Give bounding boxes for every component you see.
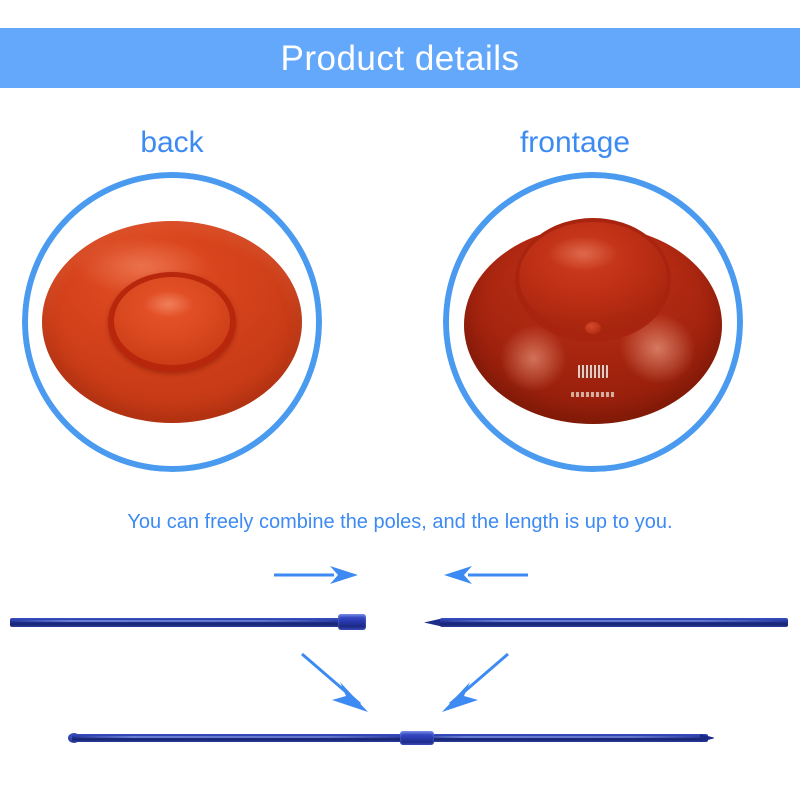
photo-ring-border-frontage bbox=[443, 172, 743, 472]
pole-joint-sleeve bbox=[400, 731, 434, 745]
pole-assembled-right-highlight bbox=[412, 736, 708, 738]
header-banner: Product details bbox=[0, 28, 800, 88]
photo-label-frontage: frontage bbox=[475, 128, 675, 158]
pole-left-highlight bbox=[10, 620, 342, 622]
arrow-left-icon bbox=[440, 562, 530, 588]
product-photo-back bbox=[22, 172, 322, 472]
photo-ring-border-back bbox=[22, 172, 322, 472]
product-photo-frontage bbox=[443, 172, 743, 472]
pole-assembled-left-section bbox=[72, 734, 412, 742]
pole-assembled-right-section bbox=[412, 734, 708, 742]
page-title: Product details bbox=[280, 41, 519, 76]
pole-right-highlight bbox=[440, 620, 788, 622]
product-details-page: Product details back frontage You can fr… bbox=[0, 0, 800, 800]
pole-assembled-left-highlight bbox=[72, 736, 412, 738]
poles-separated-row bbox=[0, 604, 800, 644]
arrow-diagonal-down-left-icon bbox=[432, 652, 512, 716]
photo-label-back: back bbox=[72, 128, 272, 158]
poles-caption: You can freely combine the poles, and th… bbox=[0, 512, 800, 532]
pole-assembled-row bbox=[0, 720, 800, 760]
arrow-diagonal-down-right-icon bbox=[298, 652, 378, 716]
arrow-right-icon bbox=[272, 562, 362, 588]
pole-socket-ferrule bbox=[338, 614, 366, 630]
pole-left bbox=[10, 618, 342, 627]
pole-right bbox=[440, 618, 788, 627]
